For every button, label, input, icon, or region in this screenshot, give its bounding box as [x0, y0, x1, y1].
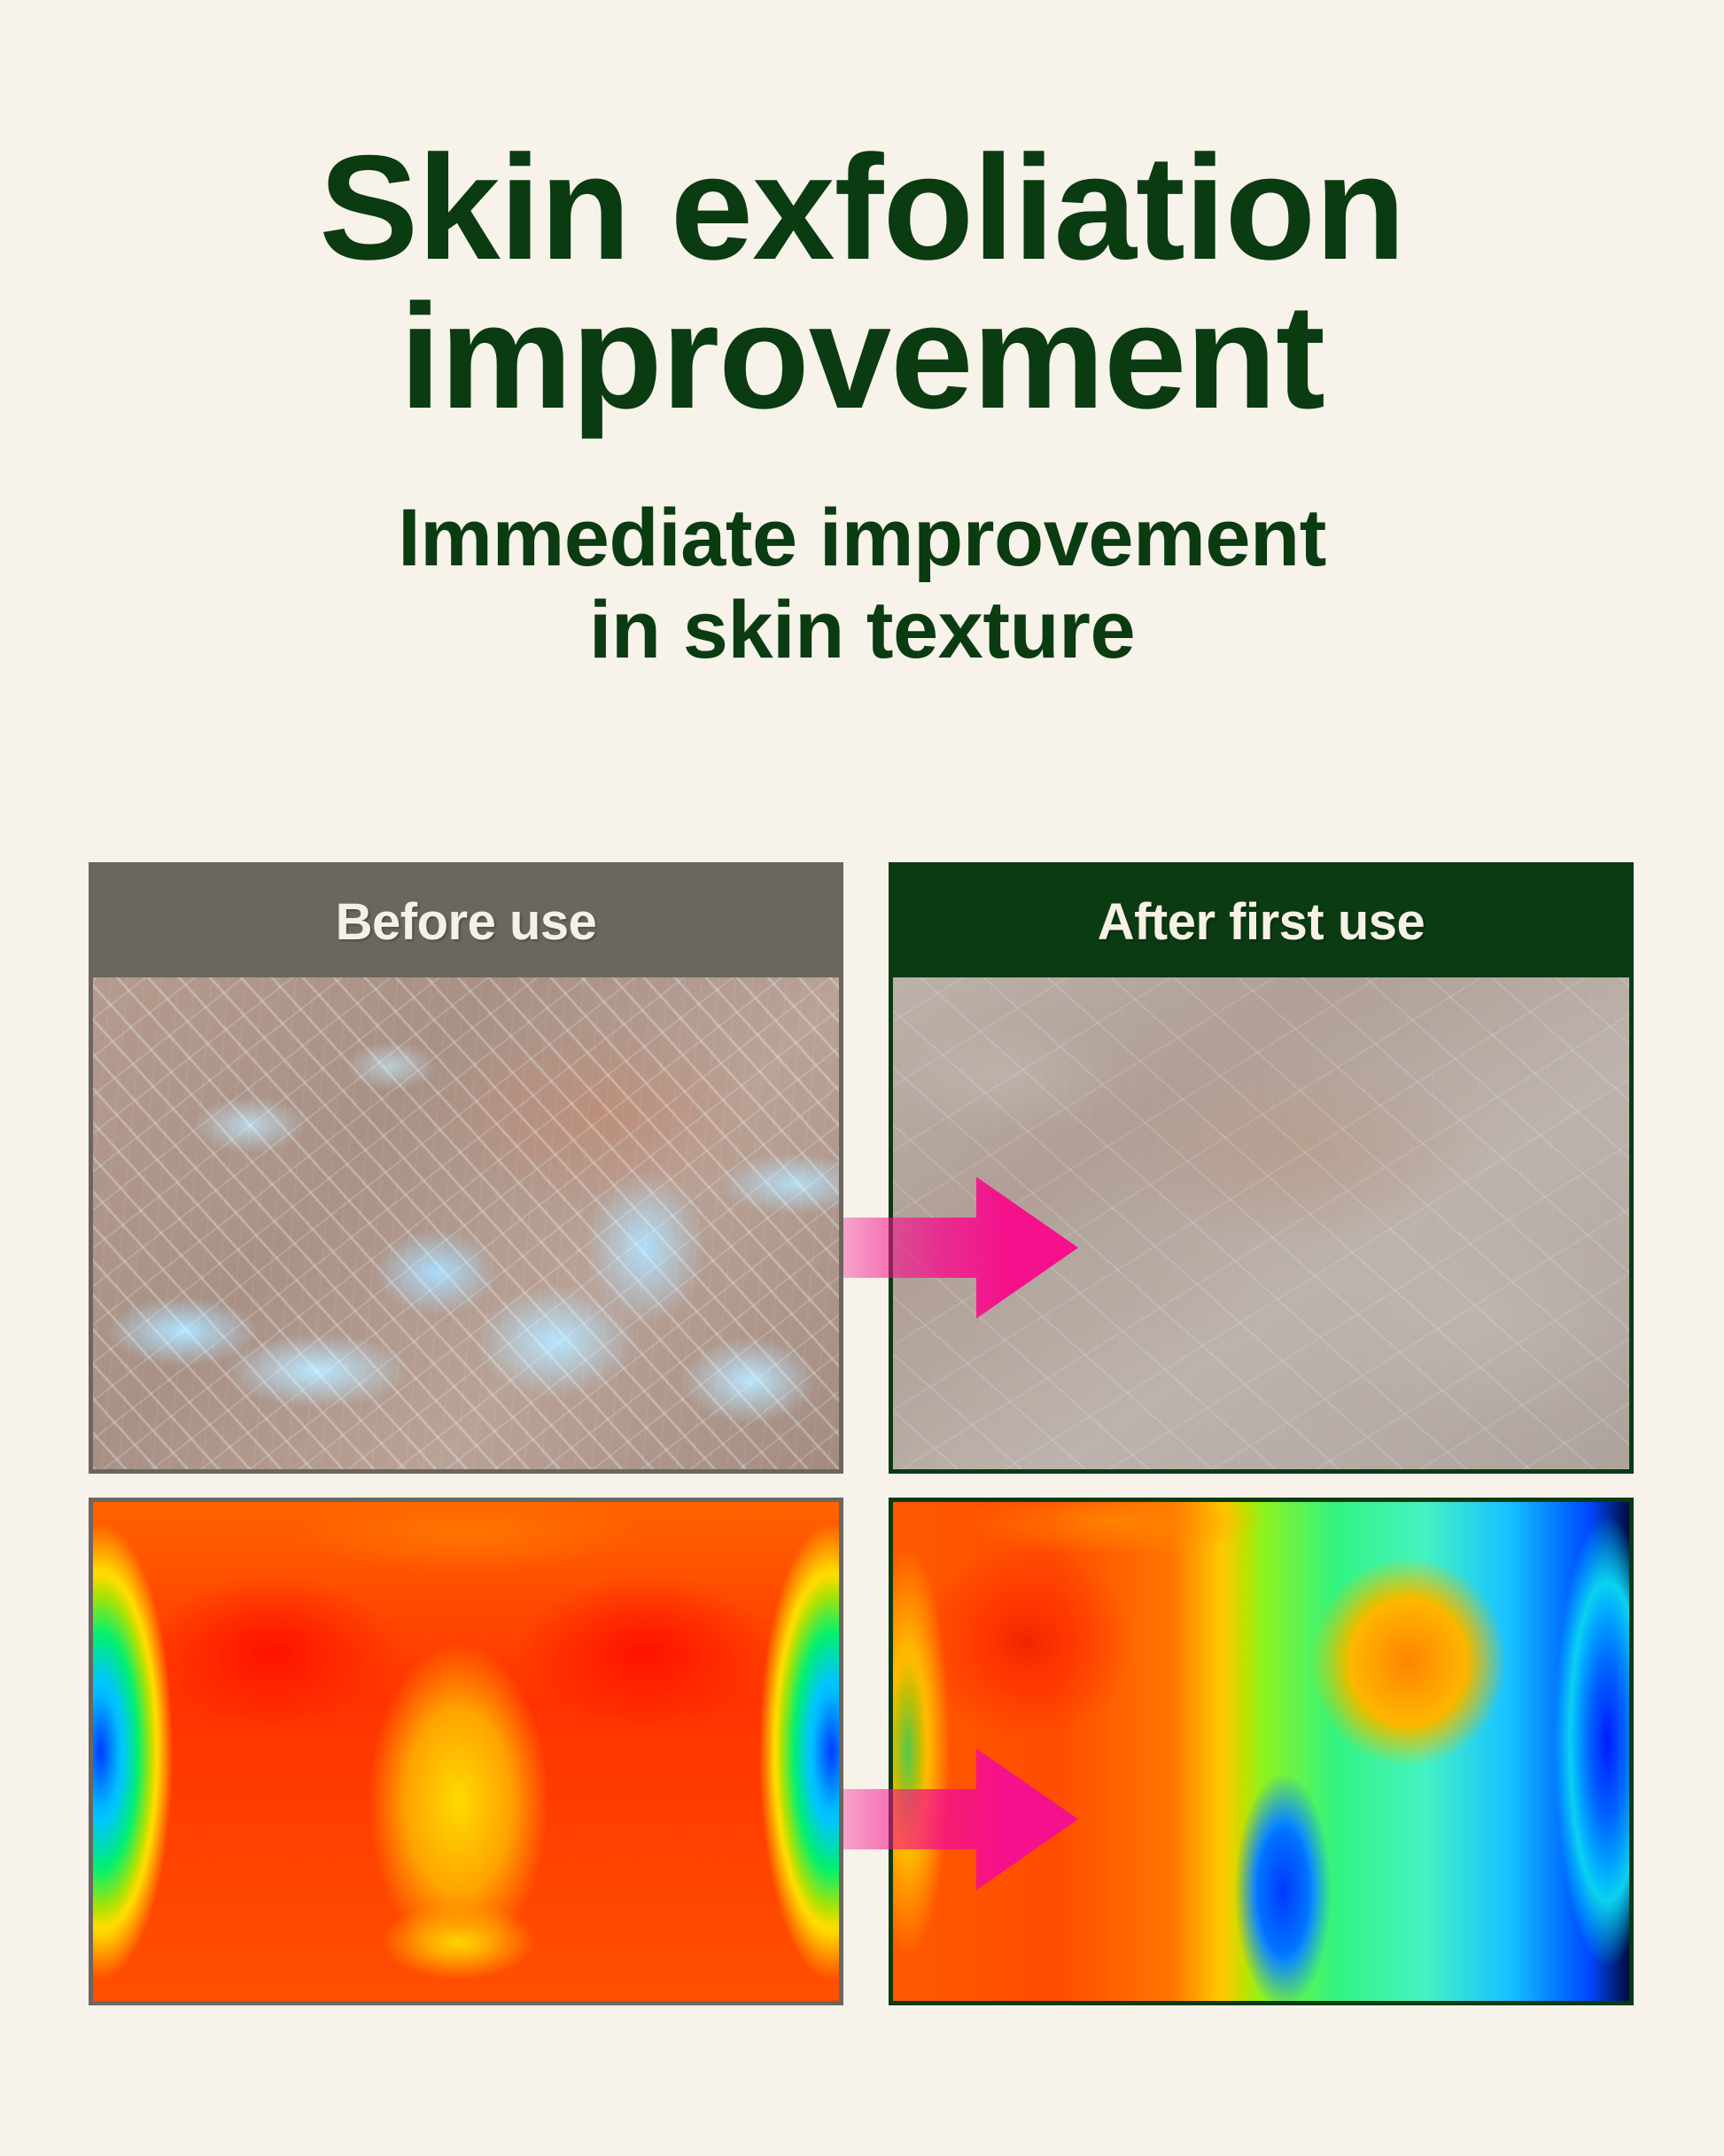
skin-texture-flaky-image: [93, 977, 839, 1469]
skin-texture-smooth-image: [893, 977, 1629, 1469]
page-subtitle: Immediate improvement in skin texture: [0, 493, 1724, 677]
panel-after-thermal: [889, 1498, 1634, 2005]
photo-after-microscope: [893, 977, 1629, 1469]
poster-root: Skin exfoliation improvement Immediate i…: [0, 0, 1724, 2156]
page-title: Skin exfoliation improvement: [0, 133, 1724, 431]
thermal-face-cooled-image: [893, 1502, 1629, 2001]
photo-before-microscope: [93, 977, 839, 1469]
photo-after-thermal: [893, 1502, 1629, 2001]
comparison-grid: Before use After first use: [89, 862, 1634, 2005]
heading-block: Skin exfoliation improvement Immediate i…: [0, 133, 1724, 677]
panel-header-before: Before use: [93, 867, 839, 977]
subtitle-line-1: Immediate improvement: [0, 493, 1724, 585]
panel-header-after: After first use: [893, 867, 1629, 977]
panel-before-microscope: Before use: [89, 862, 843, 1474]
panel-after-microscope: After first use: [889, 862, 1634, 1474]
subtitle-line-2: in skin texture: [0, 585, 1724, 677]
panel-before-thermal: [89, 1498, 843, 2005]
thermal-face-warm-image: [93, 1502, 839, 2001]
photo-before-thermal: [93, 1502, 839, 2001]
